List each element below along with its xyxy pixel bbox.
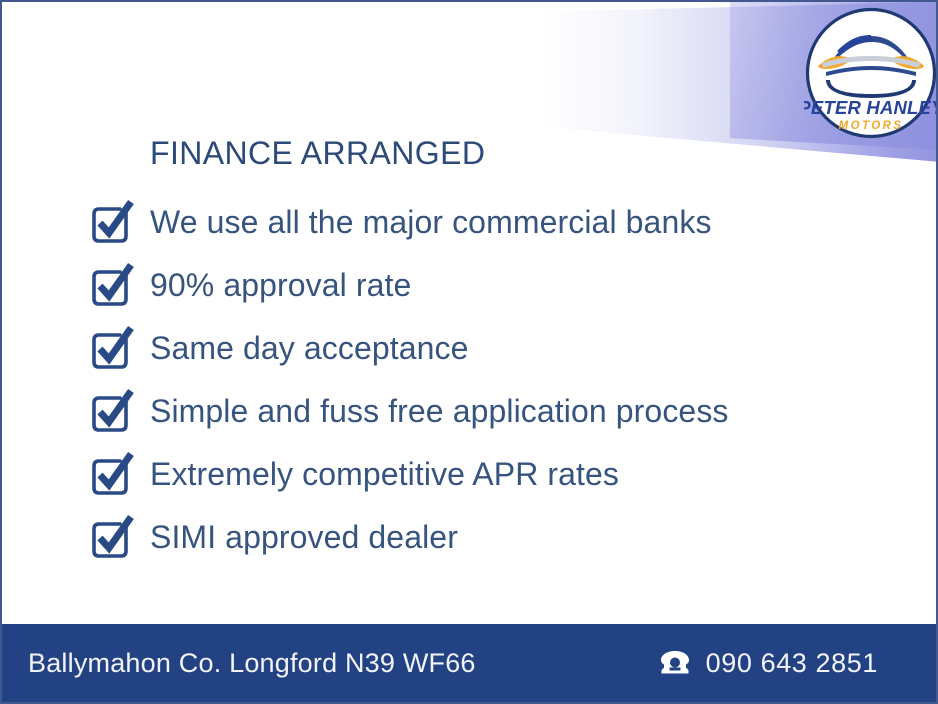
list-item: SIMI approved dealer xyxy=(86,505,886,568)
list-item: We use all the major commercial banks xyxy=(86,190,886,253)
list-item-label: Simple and fuss free application process xyxy=(150,395,729,427)
finance-arranged-poster: PETER HANLEY MOTORS FINANCE ARRANGED We … xyxy=(0,0,938,704)
list-item-label: 90% approval rate xyxy=(150,269,411,301)
telephone-icon xyxy=(658,649,692,677)
list-item: Simple and fuss free application process xyxy=(86,379,886,442)
list-item: Extremely competitive APR rates xyxy=(86,442,886,505)
feature-list: We use all the major commercial banks 90… xyxy=(86,190,886,568)
list-item-label: SIMI approved dealer xyxy=(150,521,458,553)
checkbox-checked-icon xyxy=(86,322,138,374)
logo-brand-sub: MOTORS xyxy=(839,120,904,132)
page-title: FINANCE ARRANGED xyxy=(150,135,485,172)
footer-bar: Ballymahon Co. Longford N39 WF66 090 643… xyxy=(2,624,936,702)
list-item-label: Same day acceptance xyxy=(150,332,469,364)
checkbox-checked-icon xyxy=(86,196,138,248)
checkbox-checked-icon xyxy=(86,259,138,311)
checkbox-checked-icon xyxy=(86,511,138,563)
list-item-label: We use all the major commercial banks xyxy=(150,206,712,238)
list-item: Same day acceptance xyxy=(86,316,886,379)
phone-contact[interactable]: 090 643 2851 xyxy=(658,648,914,679)
list-item: 90% approval rate xyxy=(86,253,886,316)
logo-brand-name: PETER HANLEY xyxy=(804,97,938,118)
phone-number: 090 643 2851 xyxy=(706,648,878,679)
dealer-logo: PETER HANLEY MOTORS xyxy=(804,6,938,140)
dealer-address: Ballymahon Co. Longford N39 WF66 xyxy=(28,648,476,679)
checkbox-checked-icon xyxy=(86,448,138,500)
checkbox-checked-icon xyxy=(86,385,138,437)
list-item-label: Extremely competitive APR rates xyxy=(150,458,619,490)
header-gradient-swoosh xyxy=(2,2,938,202)
